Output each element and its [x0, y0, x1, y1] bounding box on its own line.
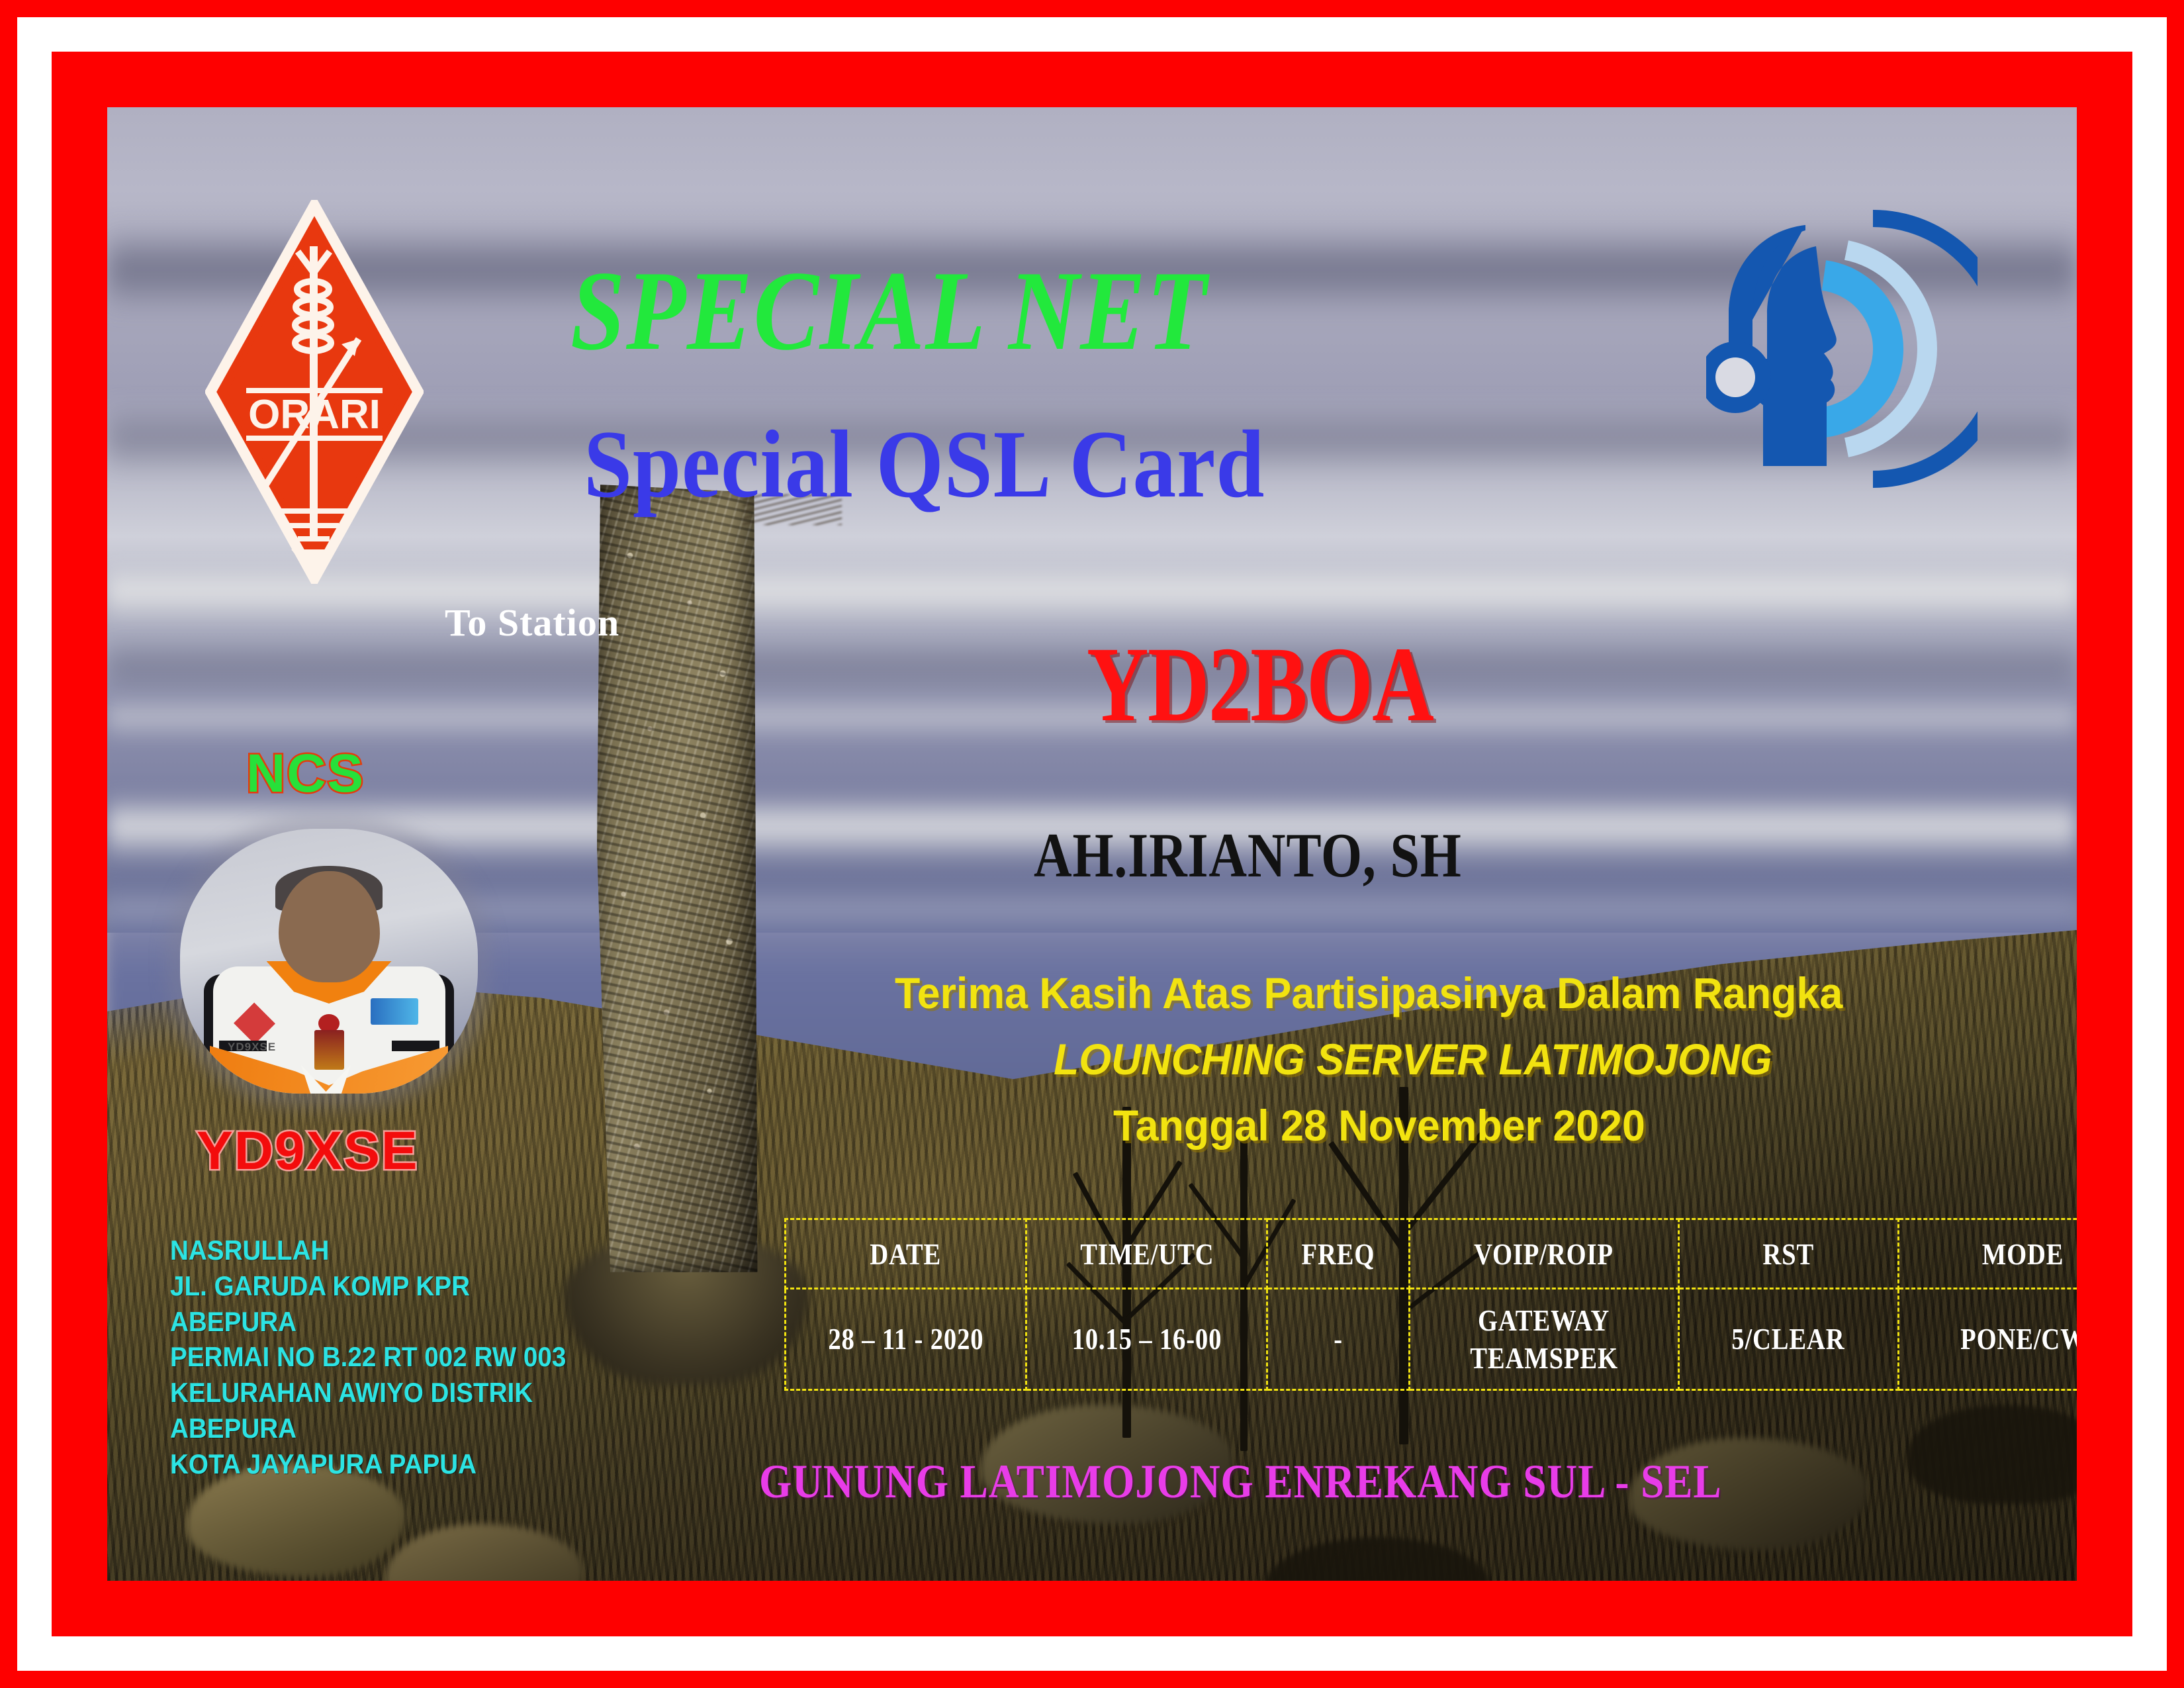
- address-line: ABEPURA: [170, 1304, 566, 1340]
- cell-rst: 5/CLEAR: [1678, 1289, 1898, 1390]
- ncs-operator-photo: YD9XSE: [180, 829, 478, 1094]
- ncs-label: NCS: [246, 743, 365, 805]
- column-header-time: TIME/UTC: [1026, 1219, 1267, 1289]
- card-subtitle: Special QSL Card: [584, 408, 1341, 520]
- table-row: 28 – 11 - 2020 10.15 – 16-00 - GATEWAY T…: [786, 1289, 2077, 1390]
- table-header-row: DATE TIME/UTC FREQ VOIP/ROIP RST MODE: [786, 1219, 2077, 1289]
- ncs-callsign: YD9XSE: [197, 1120, 419, 1182]
- cell-voip: GATEWAY TEAMSPEK: [1409, 1289, 1678, 1390]
- orari-logo: ORARI: [205, 200, 424, 584]
- thanks-line-3: Tanggal 28 November 2020: [1113, 1100, 1673, 1150]
- operator-name: AH.IRIANTO, SH: [1034, 819, 1543, 892]
- photo-face: [279, 871, 380, 982]
- location-line: GUNUNG LATIMOJONG ENREKANG SUL - SEL: [759, 1454, 1853, 1509]
- qsl-card: ORARI: [0, 0, 2184, 1688]
- white-frame-border: ORARI: [17, 17, 2167, 1671]
- column-header-rst: RST: [1678, 1219, 1898, 1289]
- address-line: PERMAI NO B.22 RT 002 RW 003: [170, 1339, 566, 1375]
- cell-date: 28 – 11 - 2020: [786, 1289, 1026, 1390]
- address-line: NASRULLAH: [170, 1233, 566, 1268]
- address-line: ABEPURA: [170, 1411, 566, 1446]
- photo-badge-right: [371, 998, 418, 1025]
- thanks-line-1: Terima Kasih Atas Partisipasinya Dalam R…: [895, 968, 1893, 1018]
- column-header-voip: VOIP/ROIP: [1409, 1219, 1678, 1289]
- qso-log-table: DATE TIME/UTC FREQ VOIP/ROIP RST MODE 28…: [784, 1218, 2077, 1391]
- address-line: JL. GARUDA KOMP KPR: [170, 1268, 566, 1304]
- inner-red-frame-border: ORARI: [52, 52, 2132, 1636]
- thanks-line-2: LOUNCHING SERVER LATIMOJONG: [1054, 1034, 1810, 1084]
- sender-address-block: NASRULLAH JL. GARUDA KOMP KPR ABEPURA PE…: [170, 1233, 600, 1481]
- address-line: KOTA JAYAPURA PAPUA: [170, 1446, 566, 1482]
- cell-mode: PONE/CW: [1898, 1289, 2077, 1390]
- photo-id-badge: [314, 1030, 344, 1070]
- to-station-label: To Station: [445, 600, 619, 645]
- card-photo-background: ORARI: [107, 107, 2077, 1581]
- radio-headset-logo: [1706, 207, 1978, 491]
- orari-logo-text: ORARI: [248, 392, 381, 438]
- cell-freq: -: [1267, 1289, 1409, 1390]
- card-title: SPECIAL NET: [570, 246, 1312, 377]
- photo-uniform-stripe-right: [392, 1041, 439, 1051]
- cell-time: 10.15 – 16-00: [1026, 1289, 1267, 1390]
- column-header-date: DATE: [786, 1219, 1026, 1289]
- column-header-freq: FREQ: [1267, 1219, 1409, 1289]
- address-line: KELURAHAN AWIYO DISTRIK: [170, 1375, 566, 1411]
- column-header-mode: MODE: [1898, 1219, 2077, 1289]
- station-callsign: YD2BOA: [1087, 624, 1520, 747]
- photo-shirt-callsign: YD9XSE: [228, 1041, 276, 1054]
